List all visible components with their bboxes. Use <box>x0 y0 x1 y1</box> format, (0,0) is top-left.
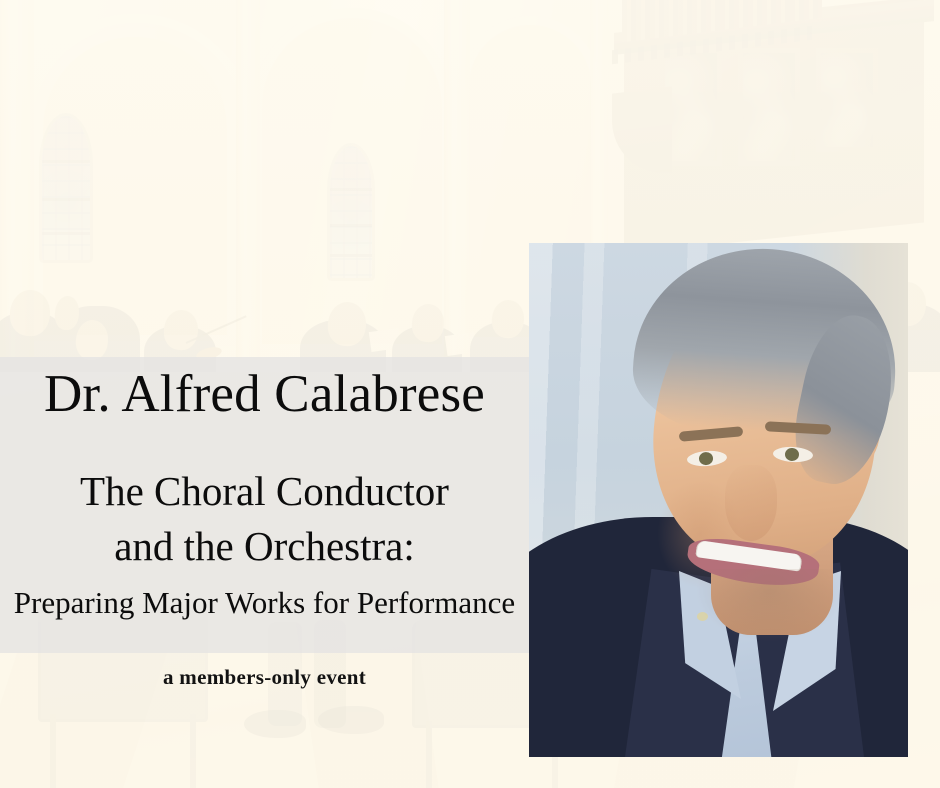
event-promo-poster: Dr. Alfred Calabrese The Choral Conducto… <box>0 0 940 788</box>
speaker-name: Dr. Alfred Calabrese <box>0 368 529 421</box>
members-only-note: a members-only event <box>0 665 529 690</box>
speaker-portrait-photo <box>529 243 908 757</box>
talk-title-line-2: and the Orchestra: <box>0 519 529 574</box>
nose <box>725 465 777 541</box>
talk-title-line-1: The Choral Conductor <box>0 464 529 519</box>
jaw-shading <box>697 569 843 641</box>
talk-subtitle: Preparing Major Works for Performance <box>0 586 529 620</box>
talk-title: The Choral Conductor and the Orchestra: <box>0 464 529 575</box>
